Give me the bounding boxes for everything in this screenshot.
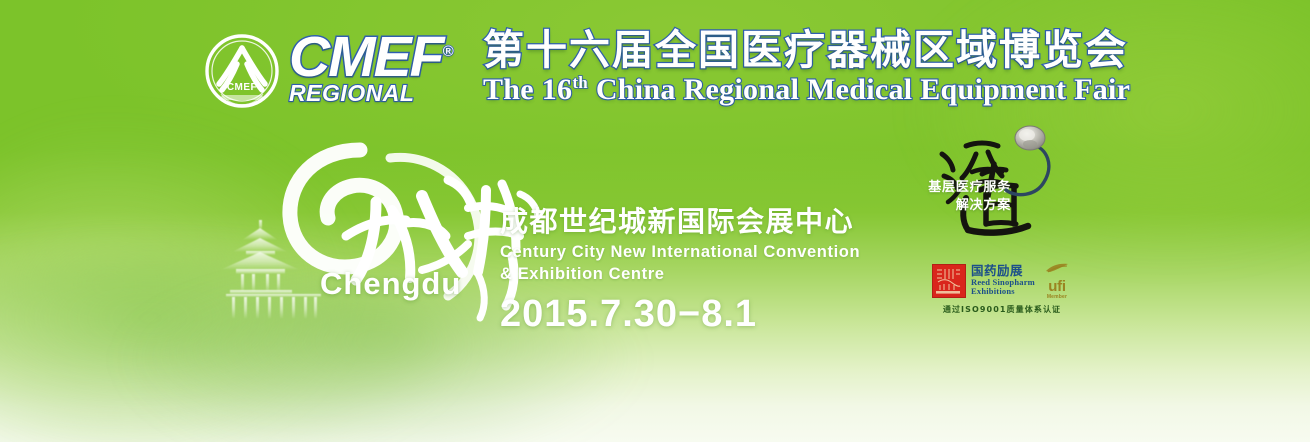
cmef-wordmark-text: CMEF bbox=[289, 25, 442, 89]
event-title-english-prefix: The 16 bbox=[483, 73, 572, 106]
theme-subtitle-line1: 基层医疗服务 bbox=[903, 179, 1011, 197]
organiser-logos: 国药励展 Reed Sinopharm Exhibitions ufi Memb… bbox=[932, 261, 1072, 315]
event-title-english-suffix: China Regional Medical Equipment Fair bbox=[588, 73, 1130, 106]
event-titles: 第十六届全国医疗器械区域博览会 The 16th China Regional … bbox=[483, 28, 1130, 106]
venue-name-chinese: 成都世纪城新国际会展中心 bbox=[500, 206, 860, 238]
ufi-member-text: Member bbox=[1042, 294, 1072, 300]
event-dates: 2015.7.30−8.1 bbox=[500, 293, 860, 336]
registered-trademark-icon: ® bbox=[442, 43, 453, 60]
event-header-lockup: CMEF CMEF® REGIONAL 第十六届全国医疗器械区域博览会 The … bbox=[205, 28, 1130, 108]
cmef-wordmark-block: CMEF® REGIONAL bbox=[289, 30, 457, 107]
organiser-name-chinese: 国药励展 bbox=[971, 264, 1035, 278]
cmef-wordmark: CMEF® bbox=[289, 30, 457, 84]
venue-name-english-line2: & Exhibition Centre bbox=[500, 264, 860, 285]
reed-sinopharm-seal-icon bbox=[932, 264, 966, 298]
iso-certification-text: 通过ISO9001质量体系认证 bbox=[932, 304, 1072, 315]
ufi-wing-icon bbox=[1044, 263, 1070, 274]
organiser-row: 国药励展 Reed Sinopharm Exhibitions ufi Memb… bbox=[932, 261, 1072, 300]
stethoscope-icon bbox=[996, 122, 1066, 227]
event-title-ordinal-suffix: th bbox=[572, 73, 588, 92]
chengdu-romanized-label: Chengdu bbox=[320, 266, 461, 302]
cmef-event-banner: Chengdu CMEF bbox=[0, 0, 1310, 442]
venue-name-english-line1: Century City New International Conventio… bbox=[500, 242, 860, 263]
theme-cluster: 基层医疗服务 解决方案 bbox=[900, 124, 1075, 234]
organiser-name-english-line2: Exhibitions bbox=[971, 287, 1035, 297]
theme-subtitle-line2: 解决方案 bbox=[903, 197, 1011, 215]
event-title-chinese: 第十六届全国医疗器械区域博览会 bbox=[483, 28, 1130, 72]
ufi-mark-text: ufi bbox=[1042, 279, 1072, 294]
venue-name-english: Century City New International Conventio… bbox=[500, 242, 860, 285]
cmef-emblem-icon: CMEF bbox=[205, 34, 279, 108]
organiser-names: 国药励展 Reed Sinopharm Exhibitions bbox=[971, 264, 1035, 297]
svg-text:CMEF: CMEF bbox=[227, 82, 257, 93]
event-title-english: The 16th China Regional Medical Equipmen… bbox=[483, 74, 1130, 106]
venue-info-block: 成都世纪城新国际会展中心 Century City New Internatio… bbox=[500, 206, 860, 336]
ufi-logo: ufi Member bbox=[1042, 261, 1072, 300]
theme-subtitle: 基层医疗服务 解决方案 bbox=[903, 179, 1011, 214]
